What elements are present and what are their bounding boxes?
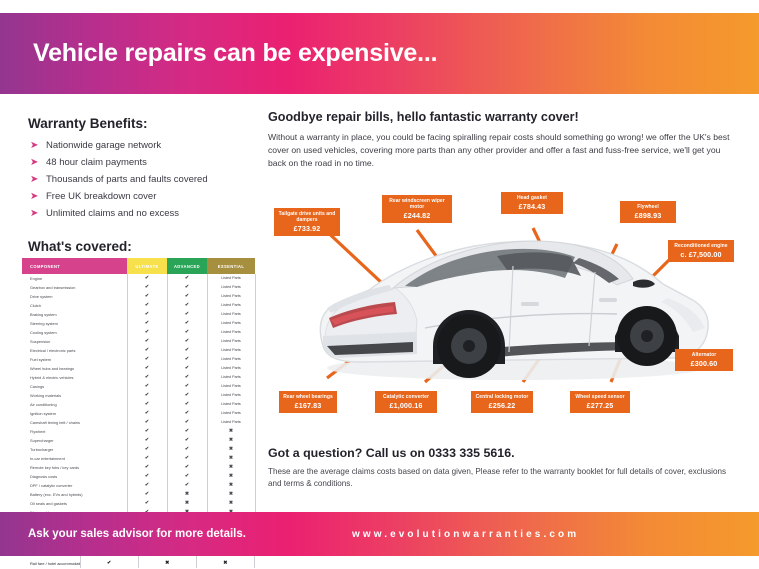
ultimate-mark: ✔ <box>127 382 167 391</box>
benefit-label: Nationwide garage network <box>46 140 161 151</box>
callout-price: £256.22 <box>475 401 529 410</box>
callout-flywheel: Flywheel £898.93 <box>620 201 676 223</box>
advanced-mark: ✔ <box>167 382 207 391</box>
component-name: Steering system <box>22 319 127 328</box>
table-row: Gearbox and transmission✔✔Listed Parts <box>22 283 255 292</box>
table-row: Diagnosis costs✔✔✖ <box>22 472 255 481</box>
table-row: Camshaft timing belt / chains✔✔Listed Pa… <box>22 418 255 427</box>
advanced-mark: ✔ <box>167 445 207 454</box>
essential-mark: Listed Parts <box>207 373 255 382</box>
benefit-label: 48 hour claim payments <box>46 157 147 168</box>
essential-mark: ✖ <box>207 499 255 508</box>
component-name: Diagnosis costs <box>22 472 127 481</box>
arrow-right-icon: ➤ <box>30 192 46 202</box>
component-name: Turbocharger <box>22 445 127 454</box>
advanced-mark: ✖ <box>167 499 207 508</box>
callout-label: Central locking motor <box>476 394 529 400</box>
column-header-component: Component <box>22 258 127 274</box>
table-row: Engine✔✔Listed Parts <box>22 274 255 283</box>
advanced-mark: ✔ <box>167 301 207 310</box>
essential-mark: ✖ <box>207 481 255 490</box>
ultimate-mark: ✔ <box>127 391 167 400</box>
callout-rear-wheel-bearings: Rear wheel bearings £167.83 <box>279 391 337 413</box>
ultimate-mark: ✔ <box>127 337 167 346</box>
intro-heading: Goodbye repair bills, hello fantastic wa… <box>268 110 738 124</box>
component-name: In-car entertainment <box>22 454 127 463</box>
ultimate-mark: ✔ <box>80 559 138 568</box>
essential-mark: Listed Parts <box>207 355 255 364</box>
component-name: Supercharger <box>22 436 127 445</box>
ultimate-mark: ✔ <box>127 454 167 463</box>
table-row: Flywheel✔✔✖ <box>22 427 255 436</box>
coverage-table-body: Engine✔✔Listed PartsGearbox and transmis… <box>22 274 255 517</box>
essential-mark: Listed Parts <box>207 391 255 400</box>
callout-price: £277.25 <box>574 401 626 410</box>
callout-price: £167.83 <box>283 401 333 410</box>
coverage-table-header: Component ULTIMATE ADVANCED ESSENTIAL <box>22 258 255 274</box>
essential-mark: ✖ <box>196 559 254 568</box>
essential-mark: ✖ <box>207 490 255 499</box>
table-row: Wheel hubs and bearings✔✔Listed Parts <box>22 364 255 373</box>
table-row: Air conditioning✔✔Listed Parts <box>22 400 255 409</box>
ultimate-mark: ✔ <box>127 283 167 292</box>
arrow-right-icon: ➤ <box>30 209 46 219</box>
ultimate-mark: ✔ <box>127 436 167 445</box>
component-name: Casings <box>22 382 127 391</box>
table-row: Cooling system✔✔Listed Parts <box>22 328 255 337</box>
component-name: Clutch <box>22 301 127 310</box>
callout-price: £784.43 <box>505 202 559 211</box>
callout-label: Reconditioned engine <box>674 243 727 249</box>
essential-mark: Listed Parts <box>207 418 255 427</box>
main-content: Warranty Benefits: ➤ Nationwide garage n… <box>0 94 759 506</box>
table-row: Working materials✔✔Listed Parts <box>22 391 255 400</box>
advanced-mark: ✔ <box>167 310 207 319</box>
list-item: ➤ Free UK breakdown cover <box>30 191 258 202</box>
arrow-right-icon: ➤ <box>30 158 46 168</box>
column-header-advanced: ADVANCED <box>167 258 207 274</box>
callout-price: £733.92 <box>278 224 336 233</box>
essential-mark: Listed Parts <box>207 283 255 292</box>
component-name: Engine <box>22 274 127 283</box>
benefit-label: Thousands of parts and faults covered <box>46 174 208 185</box>
advanced-mark: ✔ <box>167 346 207 355</box>
callout-reconditioned-engine: Reconditioned engine c. £7,500.00 <box>668 240 734 262</box>
essential-mark: Listed Parts <box>207 319 255 328</box>
essential-mark: Listed Parts <box>207 409 255 418</box>
page-title: Vehicle repairs can be expensive... <box>33 39 437 68</box>
table-row: Rail fare / hotel accommodation✔✖✖ <box>22 559 255 568</box>
component-name: Rail fare / hotel accommodation <box>22 559 80 568</box>
footer-banner: Ask your sales advisor for more details.… <box>0 512 759 556</box>
whats-covered-heading: What's covered: <box>28 239 258 254</box>
advanced-mark: ✔ <box>167 355 207 364</box>
list-item: ➤ Thousands of parts and faults covered <box>30 174 258 185</box>
table-row: Steering system✔✔Listed Parts <box>22 319 255 328</box>
component-name: Battery (exc. EVs and hybrids) <box>22 490 127 499</box>
component-name: Camshaft timing belt / chains <box>22 418 127 427</box>
callout-head-gasket: Head gasket £784.43 <box>501 192 563 214</box>
list-item: ➤ Unlimited claims and no excess <box>30 208 258 219</box>
header-banner: Vehicle repairs can be expensive... <box>0 13 759 94</box>
component-name: Fuel system <box>22 355 127 364</box>
benefit-label: Unlimited claims and no excess <box>46 208 179 219</box>
contact-heading: Got a question? Call us on 0333 335 5616… <box>268 446 738 460</box>
table-row: Battery (exc. EVs and hybrids)✔✖✖ <box>22 490 255 499</box>
ultimate-mark: ✔ <box>127 310 167 319</box>
table-row: Turbocharger✔✔✖ <box>22 445 255 454</box>
component-name: Gearbox and transmission <box>22 283 127 292</box>
callout-tailgate-drive-units: Tailgate drive units and dampers £733.92 <box>274 208 340 236</box>
ultimate-mark: ✔ <box>127 364 167 373</box>
advanced-mark: ✔ <box>167 400 207 409</box>
table-row: Remote key fobs / key cards✔✔✖ <box>22 463 255 472</box>
essential-mark: ✖ <box>207 436 255 445</box>
table-row: Suspension✔✔Listed Parts <box>22 337 255 346</box>
table-row: Electrical / electronic parts✔✔Listed Pa… <box>22 346 255 355</box>
component-name: Braking system <box>22 310 127 319</box>
callout-label: Alternator <box>692 352 716 358</box>
ultimate-mark: ✔ <box>127 499 167 508</box>
advanced-mark: ✔ <box>167 427 207 436</box>
component-name: Oil seals and gaskets <box>22 499 127 508</box>
advanced-mark: ✔ <box>167 337 207 346</box>
essential-mark: Listed Parts <box>207 382 255 391</box>
ultimate-mark: ✔ <box>127 301 167 310</box>
advanced-mark: ✔ <box>167 391 207 400</box>
callout-price: £898.93 <box>624 211 672 220</box>
warranty-benefits-list: ➤ Nationwide garage network ➤ 48 hour cl… <box>30 140 258 219</box>
essential-mark: Listed Parts <box>207 337 255 346</box>
advanced-mark: ✔ <box>167 328 207 337</box>
table-row: DPF / catalytic converter✔✔✖ <box>22 481 255 490</box>
essential-mark: Listed Parts <box>207 328 255 337</box>
callout-alternator: Alternator £300.60 <box>675 349 733 371</box>
table-row: Hybrid & electric vehicles✔✔Listed Parts <box>22 373 255 382</box>
table-row: Braking system✔✔Listed Parts <box>22 310 255 319</box>
arrow-right-icon: ➤ <box>30 175 46 185</box>
table-row: Clutch✔✔Listed Parts <box>22 301 255 310</box>
essential-mark: ✖ <box>207 454 255 463</box>
callout-label: Wheel speed sensor <box>575 394 624 400</box>
component-name: Flywheel <box>22 427 127 436</box>
ultimate-mark: ✔ <box>127 490 167 499</box>
ultimate-mark: ✔ <box>127 418 167 427</box>
arrow-right-icon: ➤ <box>30 141 46 151</box>
footer-website-url[interactable]: www.evolutionwarranties.com <box>352 529 579 540</box>
table-row: Ignition system✔✔Listed Parts <box>22 409 255 418</box>
component-name: Working materials <box>22 391 127 400</box>
table-header-row: Component ULTIMATE ADVANCED ESSENTIAL <box>22 258 255 274</box>
component-name: Hybrid & electric vehicles <box>22 373 127 382</box>
table-row: Casings✔✔Listed Parts <box>22 382 255 391</box>
component-name: Wheel hubs and bearings <box>22 364 127 373</box>
callout-price: £1,000.16 <box>379 401 433 410</box>
advanced-mark: ✔ <box>167 283 207 292</box>
component-name: Air conditioning <box>22 400 127 409</box>
left-column: Warranty Benefits: ➤ Nationwide garage n… <box>28 116 258 263</box>
callout-price: £244.82 <box>386 211 448 220</box>
essential-mark: Listed Parts <box>207 301 255 310</box>
callout-central-locking-motor: Central locking motor £256.22 <box>471 391 533 413</box>
essential-mark: ✖ <box>207 427 255 436</box>
advanced-mark: ✔ <box>167 454 207 463</box>
intro-block: Goodbye repair bills, hello fantastic wa… <box>268 110 738 170</box>
vehicle-diagram: Tailgate drive units and dampers £733.92… <box>265 186 759 441</box>
contact-disclaimer: These are the average claims costs based… <box>268 466 738 489</box>
component-name: Drive system <box>22 292 127 301</box>
advanced-mark: ✔ <box>167 436 207 445</box>
essential-mark: ✖ <box>207 463 255 472</box>
intro-body: Without a warranty in place, you could b… <box>268 131 736 170</box>
component-name: Suspension <box>22 337 127 346</box>
advanced-mark: ✖ <box>138 559 196 568</box>
ultimate-mark: ✔ <box>127 373 167 382</box>
callout-label: Rear wheel bearings <box>283 394 333 400</box>
essential-mark: Listed Parts <box>207 310 255 319</box>
table-row: Oil seals and gaskets✔✖✖ <box>22 499 255 508</box>
ultimate-mark: ✔ <box>127 400 167 409</box>
list-item: ➤ Nationwide garage network <box>30 140 258 151</box>
car-body <box>320 241 708 380</box>
advanced-mark: ✔ <box>167 481 207 490</box>
ultimate-mark: ✔ <box>127 346 167 355</box>
essential-mark: Listed Parts <box>207 274 255 283</box>
ultimate-mark: ✔ <box>127 472 167 481</box>
coverage-table: Component ULTIMATE ADVANCED ESSENTIAL En… <box>22 258 256 517</box>
callout-rear-windscreen-wiper-motor: Rear windscreen wiper motor £244.82 <box>382 195 452 223</box>
benefit-label: Free UK breakdown cover <box>46 191 156 202</box>
component-name: Ignition system <box>22 409 127 418</box>
ultimate-mark: ✔ <box>127 409 167 418</box>
component-name: Cooling system <box>22 328 127 337</box>
advanced-mark: ✔ <box>167 418 207 427</box>
component-name: Remote key fobs / key cards <box>22 463 127 472</box>
callout-label: Rear windscreen wiper motor <box>389 198 445 210</box>
table-row: Fuel system✔✔Listed Parts <box>22 355 255 364</box>
advanced-mark: ✖ <box>167 490 207 499</box>
essential-mark: Listed Parts <box>207 292 255 301</box>
ultimate-mark: ✔ <box>127 292 167 301</box>
table-row: Supercharger✔✔✖ <box>22 436 255 445</box>
callout-price: c. £7,500.00 <box>672 250 730 259</box>
callout-price: £300.60 <box>679 359 729 368</box>
ultimate-mark: ✔ <box>127 445 167 454</box>
callout-label: Tailgate drive units and dampers <box>279 211 336 223</box>
advanced-mark: ✔ <box>167 373 207 382</box>
callout-label: Head gasket <box>517 195 547 201</box>
component-name: Electrical / electronic parts <box>22 346 127 355</box>
list-item: ➤ 48 hour claim payments <box>30 157 258 168</box>
essential-mark: ✖ <box>207 445 255 454</box>
advanced-mark: ✔ <box>167 409 207 418</box>
footer-cta-text: Ask your sales advisor for more details. <box>28 528 246 540</box>
callout-label: Catalytic converter <box>383 394 429 400</box>
ultimate-mark: ✔ <box>127 463 167 472</box>
component-name: DPF / catalytic converter <box>22 481 127 490</box>
table-row: Drive system✔✔Listed Parts <box>22 292 255 301</box>
advanced-mark: ✔ <box>167 463 207 472</box>
column-header-essential: ESSENTIAL <box>207 258 255 274</box>
advanced-mark: ✔ <box>167 364 207 373</box>
column-header-ultimate: ULTIMATE <box>127 258 167 274</box>
ultimate-mark: ✔ <box>127 355 167 364</box>
essential-mark: Listed Parts <box>207 346 255 355</box>
advanced-mark: ✔ <box>167 292 207 301</box>
advanced-mark: ✔ <box>167 319 207 328</box>
advanced-mark: ✔ <box>167 472 207 481</box>
advanced-mark: ✔ <box>167 274 207 283</box>
essential-mark: Listed Parts <box>207 364 255 373</box>
callout-label: Flywheel <box>637 204 659 210</box>
table-row: In-car entertainment✔✔✖ <box>22 454 255 463</box>
ultimate-mark: ✔ <box>127 274 167 283</box>
ultimate-mark: ✔ <box>127 427 167 436</box>
essential-mark: ✖ <box>207 472 255 481</box>
callout-wheel-speed-sensor: Wheel speed sensor £277.25 <box>570 391 630 413</box>
warranty-benefits-heading: Warranty Benefits: <box>28 116 258 131</box>
contact-block: Got a question? Call us on 0333 335 5616… <box>268 446 738 489</box>
ultimate-mark: ✔ <box>127 328 167 337</box>
ultimate-mark: ✔ <box>127 319 167 328</box>
callout-catalytic-converter: Catalytic converter £1,000.16 <box>375 391 437 413</box>
ultimate-mark: ✔ <box>127 481 167 490</box>
essential-mark: Listed Parts <box>207 400 255 409</box>
